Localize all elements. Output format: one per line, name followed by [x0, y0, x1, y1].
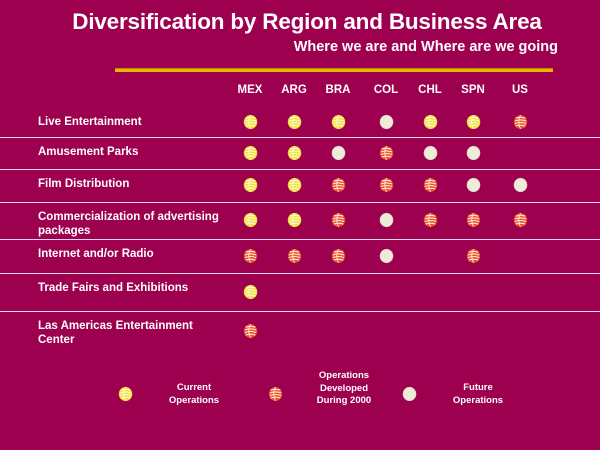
- table-row: Las Americas Entertainment Center: [0, 312, 600, 352]
- legend-label: Future Operations: [428, 382, 528, 407]
- matrix-cell-chl: [415, 248, 445, 265]
- matrix-cell-bra: [323, 284, 353, 301]
- current-globe-icon: [331, 114, 346, 130]
- current-globe-icon: [118, 386, 134, 402]
- future-globe-icon: [466, 145, 481, 161]
- future-globe-icon: [379, 114, 394, 130]
- matrix-rows: Live Entertainment: [0, 108, 600, 352]
- row-cells: [0, 240, 600, 273]
- matrix-cell-chl: [415, 177, 445, 194]
- legend: Current Operations Operations Developed …: [0, 374, 600, 424]
- matrix-cell-spn: [458, 284, 488, 301]
- matrix-cell-arg: [279, 145, 309, 162]
- table-row: Trade Fairs and Exhibitions: [0, 274, 600, 312]
- current-globe-icon: [243, 177, 258, 193]
- matrix-cell-mex: [235, 145, 265, 162]
- matrix-cell-spn: [458, 177, 488, 194]
- matrix-cell-col: [371, 177, 401, 194]
- matrix-cell-spn: [458, 114, 488, 131]
- future-globe-icon: [379, 212, 394, 228]
- developed-2000-globe-icon: [466, 212, 481, 228]
- future-globe-icon: [379, 248, 394, 264]
- developed-2000-globe-icon: [513, 114, 528, 130]
- developed-2000-globe-icon: [268, 386, 284, 402]
- legend-label: Operations Developed During 2000: [294, 370, 394, 408]
- matrix-cell-bra: [323, 323, 353, 340]
- matrix-cell-chl: [415, 323, 445, 340]
- future-globe-icon: [423, 145, 438, 161]
- matrix-cell-chl: [415, 284, 445, 301]
- matrix-cell-bra: [323, 114, 353, 131]
- matrix-cell-mex: [235, 177, 265, 194]
- matrix-column-headers: MEXARGBRACOLCHLSPNUS: [0, 82, 600, 106]
- matrix-cell-arg: [279, 248, 309, 265]
- developed-2000-globe-icon: [466, 248, 481, 264]
- matrix-cell-arg: [279, 284, 309, 301]
- matrix-cell-spn: [458, 248, 488, 265]
- developed-2000-globe-icon: [331, 177, 346, 193]
- matrix-cell-bra: [323, 248, 353, 265]
- developed-2000-globe-icon: [379, 177, 394, 193]
- table-row: Internet and/or Radio: [0, 240, 600, 274]
- developed-2000-globe-icon: [287, 248, 302, 264]
- column-header-us: US: [490, 82, 550, 98]
- matrix-cell-chl: [415, 145, 445, 162]
- developed-2000-globe-icon: [331, 248, 346, 264]
- row-cells: [0, 170, 600, 202]
- diversification-matrix: MEXARGBRACOLCHLSPNUS Live Entertainment: [0, 82, 600, 352]
- future-globe-icon: [513, 177, 528, 193]
- matrix-cell-col: [371, 323, 401, 340]
- current-globe-icon: [423, 114, 438, 130]
- matrix-cell-bra: [323, 212, 353, 229]
- future-globe-icon: [331, 145, 346, 161]
- matrix-cell-us: [505, 284, 535, 301]
- table-row: Film Distribution: [0, 170, 600, 203]
- current-globe-icon: [287, 145, 302, 161]
- matrix-cell-mex: [235, 323, 265, 340]
- matrix-cell-col: [371, 284, 401, 301]
- row-cells: [0, 203, 600, 239]
- current-globe-icon: [287, 177, 302, 193]
- page-subtitle: Where we are and Where are we going: [0, 37, 600, 57]
- matrix-cell-arg: [279, 114, 309, 131]
- matrix-cell-us: [505, 114, 535, 131]
- matrix-cell-us: [505, 177, 535, 194]
- future-globe-icon: [402, 386, 418, 402]
- developed-2000-globe-icon: [243, 248, 258, 264]
- matrix-cell-bra: [323, 145, 353, 162]
- current-globe-icon: [243, 145, 258, 161]
- developed-2000-globe-icon: [513, 212, 528, 228]
- matrix-cell-col: [371, 212, 401, 229]
- developed-2000-globe-icon: [379, 145, 394, 161]
- page-title: Diversification by Region and Business A…: [0, 8, 600, 36]
- table-row: Live Entertainment: [0, 108, 600, 138]
- matrix-cell-col: [371, 248, 401, 265]
- row-cells: [0, 312, 600, 352]
- matrix-cell-col: [371, 145, 401, 162]
- current-globe-icon: [243, 212, 258, 228]
- table-row: Commercialization of advertising package…: [0, 203, 600, 240]
- matrix-cell-mex: [235, 248, 265, 265]
- current-globe-icon: [243, 114, 258, 130]
- table-row: Amusement Parks: [0, 138, 600, 170]
- matrix-cell-arg: [279, 323, 309, 340]
- row-cells: [0, 274, 600, 311]
- future-globe-icon: [466, 177, 481, 193]
- title-block: Diversification by Region and Business A…: [0, 8, 600, 57]
- title-divider-rule: [115, 68, 553, 72]
- matrix-cell-chl: [415, 114, 445, 131]
- current-globe-icon: [287, 114, 302, 130]
- matrix-cell-us: [505, 212, 535, 229]
- current-globe-icon: [287, 212, 302, 228]
- matrix-cell-bra: [323, 177, 353, 194]
- matrix-cell-us: [505, 145, 535, 162]
- matrix-cell-mex: [235, 212, 265, 229]
- developed-2000-globe-icon: [423, 212, 438, 228]
- matrix-cell-arg: [279, 212, 309, 229]
- matrix-cell-col: [371, 114, 401, 131]
- legend-label: Current Operations: [144, 382, 244, 407]
- matrix-cell-spn: [458, 212, 488, 229]
- slide-canvas: Diversification by Region and Business A…: [0, 0, 600, 450]
- row-cells: [0, 138, 600, 169]
- row-cells: [0, 108, 600, 137]
- current-globe-icon: [243, 284, 258, 300]
- matrix-cell-us: [505, 323, 535, 340]
- matrix-cell-spn: [458, 145, 488, 162]
- developed-2000-globe-icon: [423, 177, 438, 193]
- current-globe-icon: [466, 114, 481, 130]
- matrix-cell-us: [505, 248, 535, 265]
- matrix-cell-mex: [235, 284, 265, 301]
- developed-2000-globe-icon: [331, 212, 346, 228]
- developed-2000-globe-icon: [243, 323, 258, 339]
- matrix-cell-spn: [458, 323, 488, 340]
- matrix-cell-arg: [279, 177, 309, 194]
- matrix-cell-mex: [235, 114, 265, 131]
- matrix-cell-chl: [415, 212, 445, 229]
